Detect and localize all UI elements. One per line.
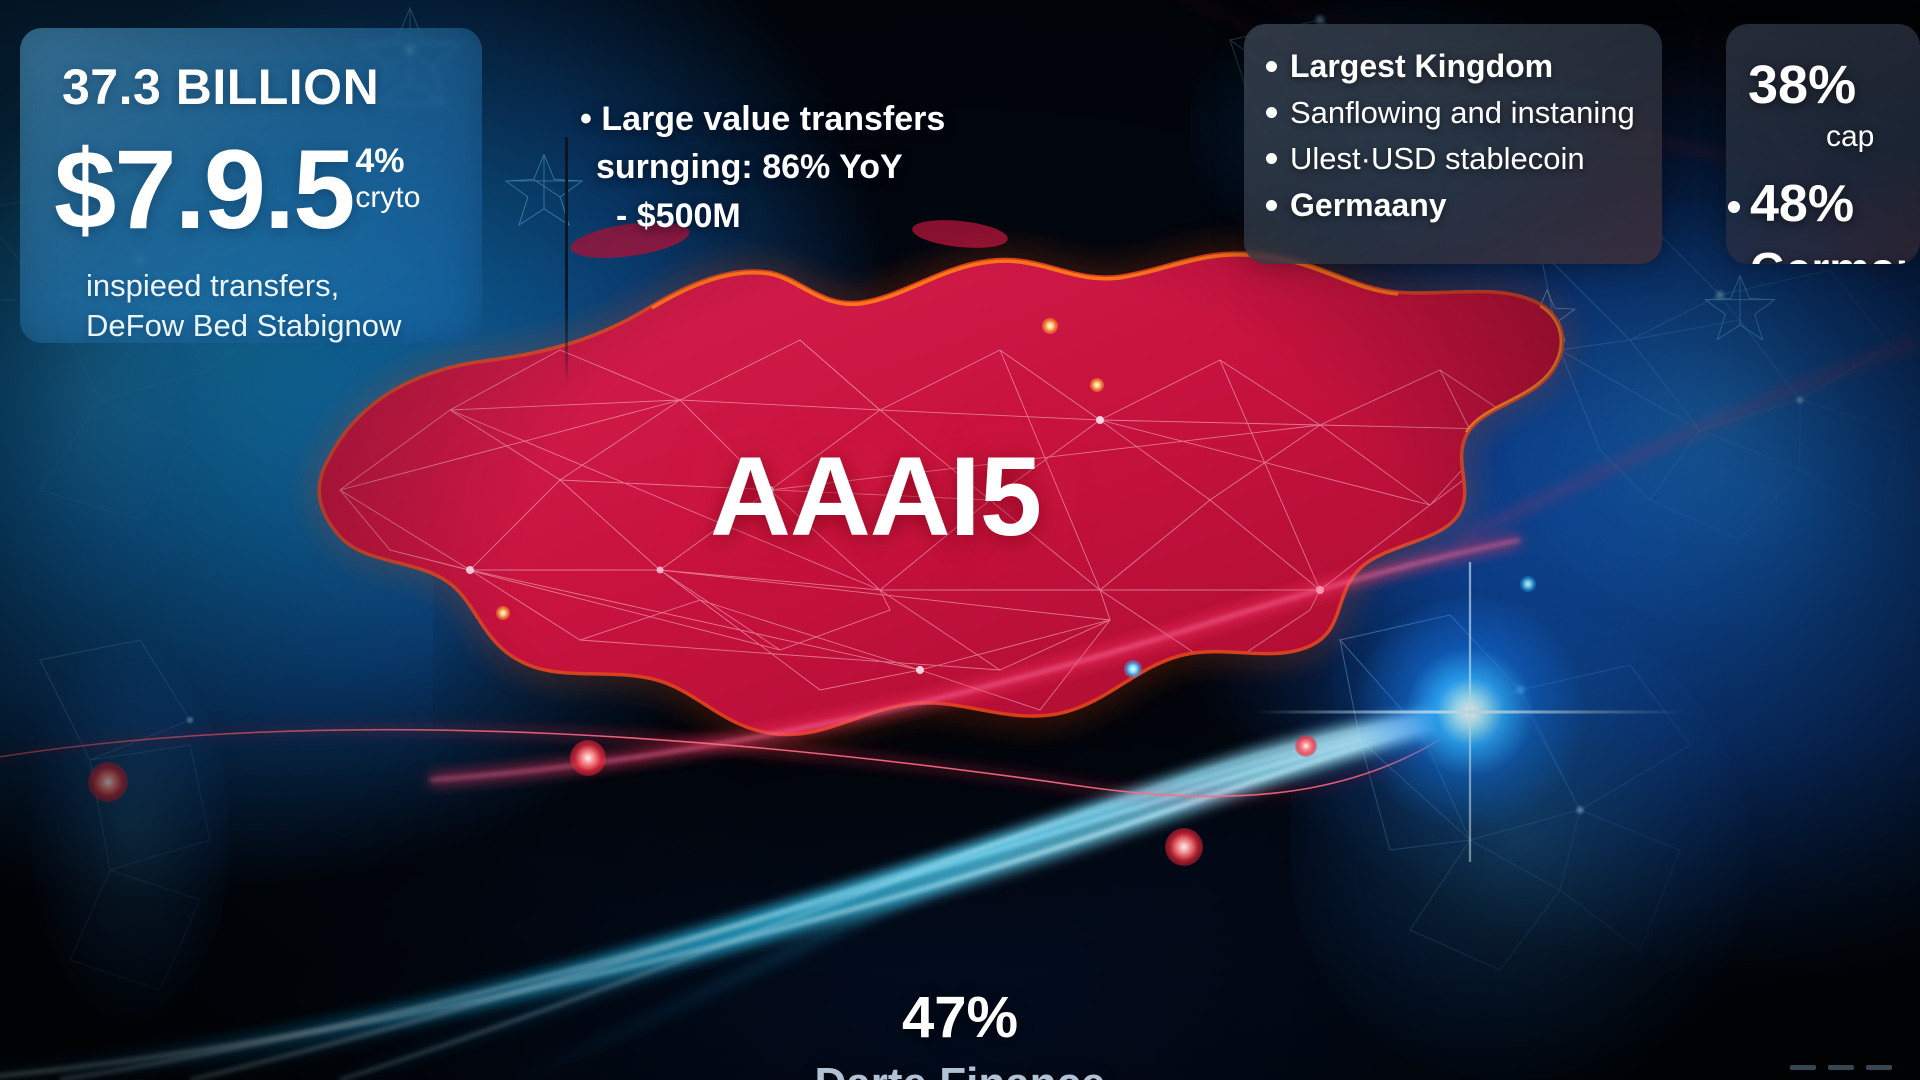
bullet-label: Germaany	[1290, 187, 1447, 224]
stat-right-cap-label: cap	[1826, 120, 1874, 154]
infographic-canvas: 37.3 BILLION $7.9.5 4% cryto inspieed tr…	[0, 0, 1920, 1080]
bullet-dot-icon	[1266, 153, 1277, 164]
bullet-label: Largest Kingdom	[1290, 48, 1553, 85]
stat-right-country: Germany	[1750, 242, 1920, 264]
list-item[interactable]: Ulest·USD stablecoin	[1266, 141, 1648, 177]
bullet-list: Largest Kingdom Sanflowing and instaning…	[1266, 48, 1648, 234]
bullet-label: Ulest·USD stablecoin	[1290, 141, 1585, 177]
corner-mark	[1790, 1065, 1816, 1070]
bottom-stat-label: Darte Finance	[0, 1059, 1920, 1080]
bullet-dot-icon	[1266, 61, 1277, 72]
bottom-stat-block: 47% Darte Finance	[0, 984, 1920, 1080]
stat-left-superscript-label: cryto	[355, 182, 420, 214]
bullet-label: Sanflowing and instaning	[1290, 95, 1635, 131]
stat-left-headline: 37.3 BILLION	[62, 58, 379, 116]
stat-left-superscript-pct: 4%	[355, 144, 420, 178]
list-item[interactable]: Germaany	[1266, 187, 1648, 224]
stat-left-value-row: $7.9.5 4% cryto	[54, 138, 420, 241]
stat-right-row-2: 48%	[1726, 174, 1854, 234]
list-item[interactable]: Largest Kingdom	[1266, 48, 1648, 85]
map-country-label: AAAI5	[710, 432, 1041, 561]
corner-mark	[1866, 1065, 1892, 1070]
callout-line-3: - $500M	[580, 192, 980, 240]
stat-right-row-3: Germany	[1726, 242, 1920, 264]
bullet-dot-icon	[1266, 107, 1277, 118]
bullet-dot-icon	[1266, 200, 1277, 211]
stat-left-subtext-line-2: DeFow Bed Stabignow	[86, 306, 401, 346]
bullet-dot-icon	[1728, 201, 1740, 213]
stat-left-big-value: $7.9.5	[54, 138, 353, 241]
corner-marks	[1790, 1065, 1892, 1070]
stat-left-subtext-line-1: inspieed transfers,	[86, 266, 401, 306]
stat-right-pct-2: 48%	[1750, 174, 1854, 234]
stat-left-subtext: inspieed transfers, DeFow Bed Stabignow	[86, 266, 401, 345]
stat-left-superscript: 4% cryto	[355, 144, 420, 214]
stat-right-pct-1: 38%	[1748, 54, 1856, 116]
callout-line-1: • Large value transfers	[580, 95, 980, 143]
bottom-stat-value: 47%	[0, 984, 1920, 1051]
stat-card-right[interactable]: 38% cap 48% Germany	[1726, 24, 1920, 264]
callout-line-2: surnging: 86% YoY	[580, 143, 980, 191]
callout-leader-line	[565, 137, 568, 387]
bullet-list-panel[interactable]: Largest Kingdom Sanflowing and instaning…	[1244, 24, 1662, 264]
list-item[interactable]: Sanflowing and instaning	[1266, 95, 1648, 131]
corner-mark	[1828, 1065, 1854, 1070]
stat-card-left[interactable]: 37.3 BILLION $7.9.5 4% cryto inspieed tr…	[20, 28, 482, 343]
center-callout[interactable]: • Large value transfers surnging: 86% Yo…	[580, 95, 980, 240]
